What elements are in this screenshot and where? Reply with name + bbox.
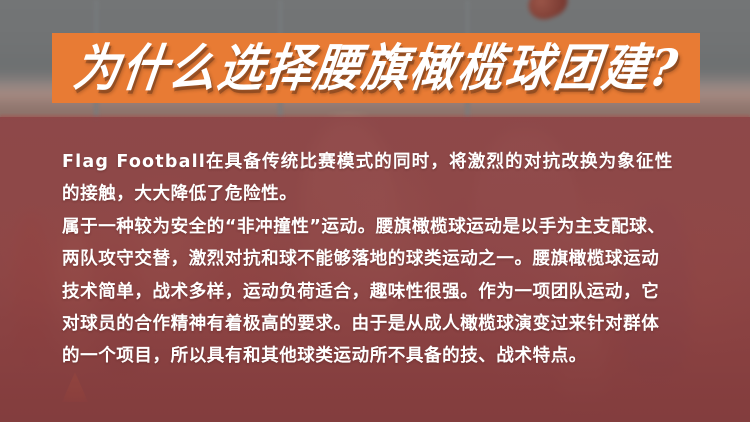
body-line: 技术简单，战术多样，运动负荷适合，趣味性很强。作为一项团队运动，它 (62, 276, 722, 308)
body-line: 的一个项目，所以具有和其他球类运动所不具备的技、战术特点。 (62, 340, 722, 372)
body-line: 属于一种较为安全的“非冲撞性”运动。腰旗橄榄球运动是以手为主支配球、 (62, 211, 722, 243)
body-line: 对球员的合作精神有着极高的要求。由于是从成人橄榄球演变过来针对群体 (62, 308, 722, 340)
page-title: 为什么选择腰旗橄榄球团建? (70, 43, 681, 94)
body-line: Flag Football在具备传统比赛模式的同时，将激烈的对抗改换为象征性 (62, 146, 722, 178)
body-copy: Flag Football在具备传统比赛模式的同时，将激烈的对抗改换为象征性 的… (62, 146, 722, 373)
body-line: 的接触，大大降低了危险性。 (62, 178, 722, 210)
title-banner: 为什么选择腰旗橄榄球团建? (52, 33, 700, 103)
promo-slide: 为什么选择腰旗橄榄球团建? Flag Football在具备传统比赛模式的同时，… (0, 0, 750, 422)
body-line: 两队攻守交替，激烈对抗和球不能够落地的球类运动之一。腰旗橄榄球运动 (62, 243, 722, 275)
